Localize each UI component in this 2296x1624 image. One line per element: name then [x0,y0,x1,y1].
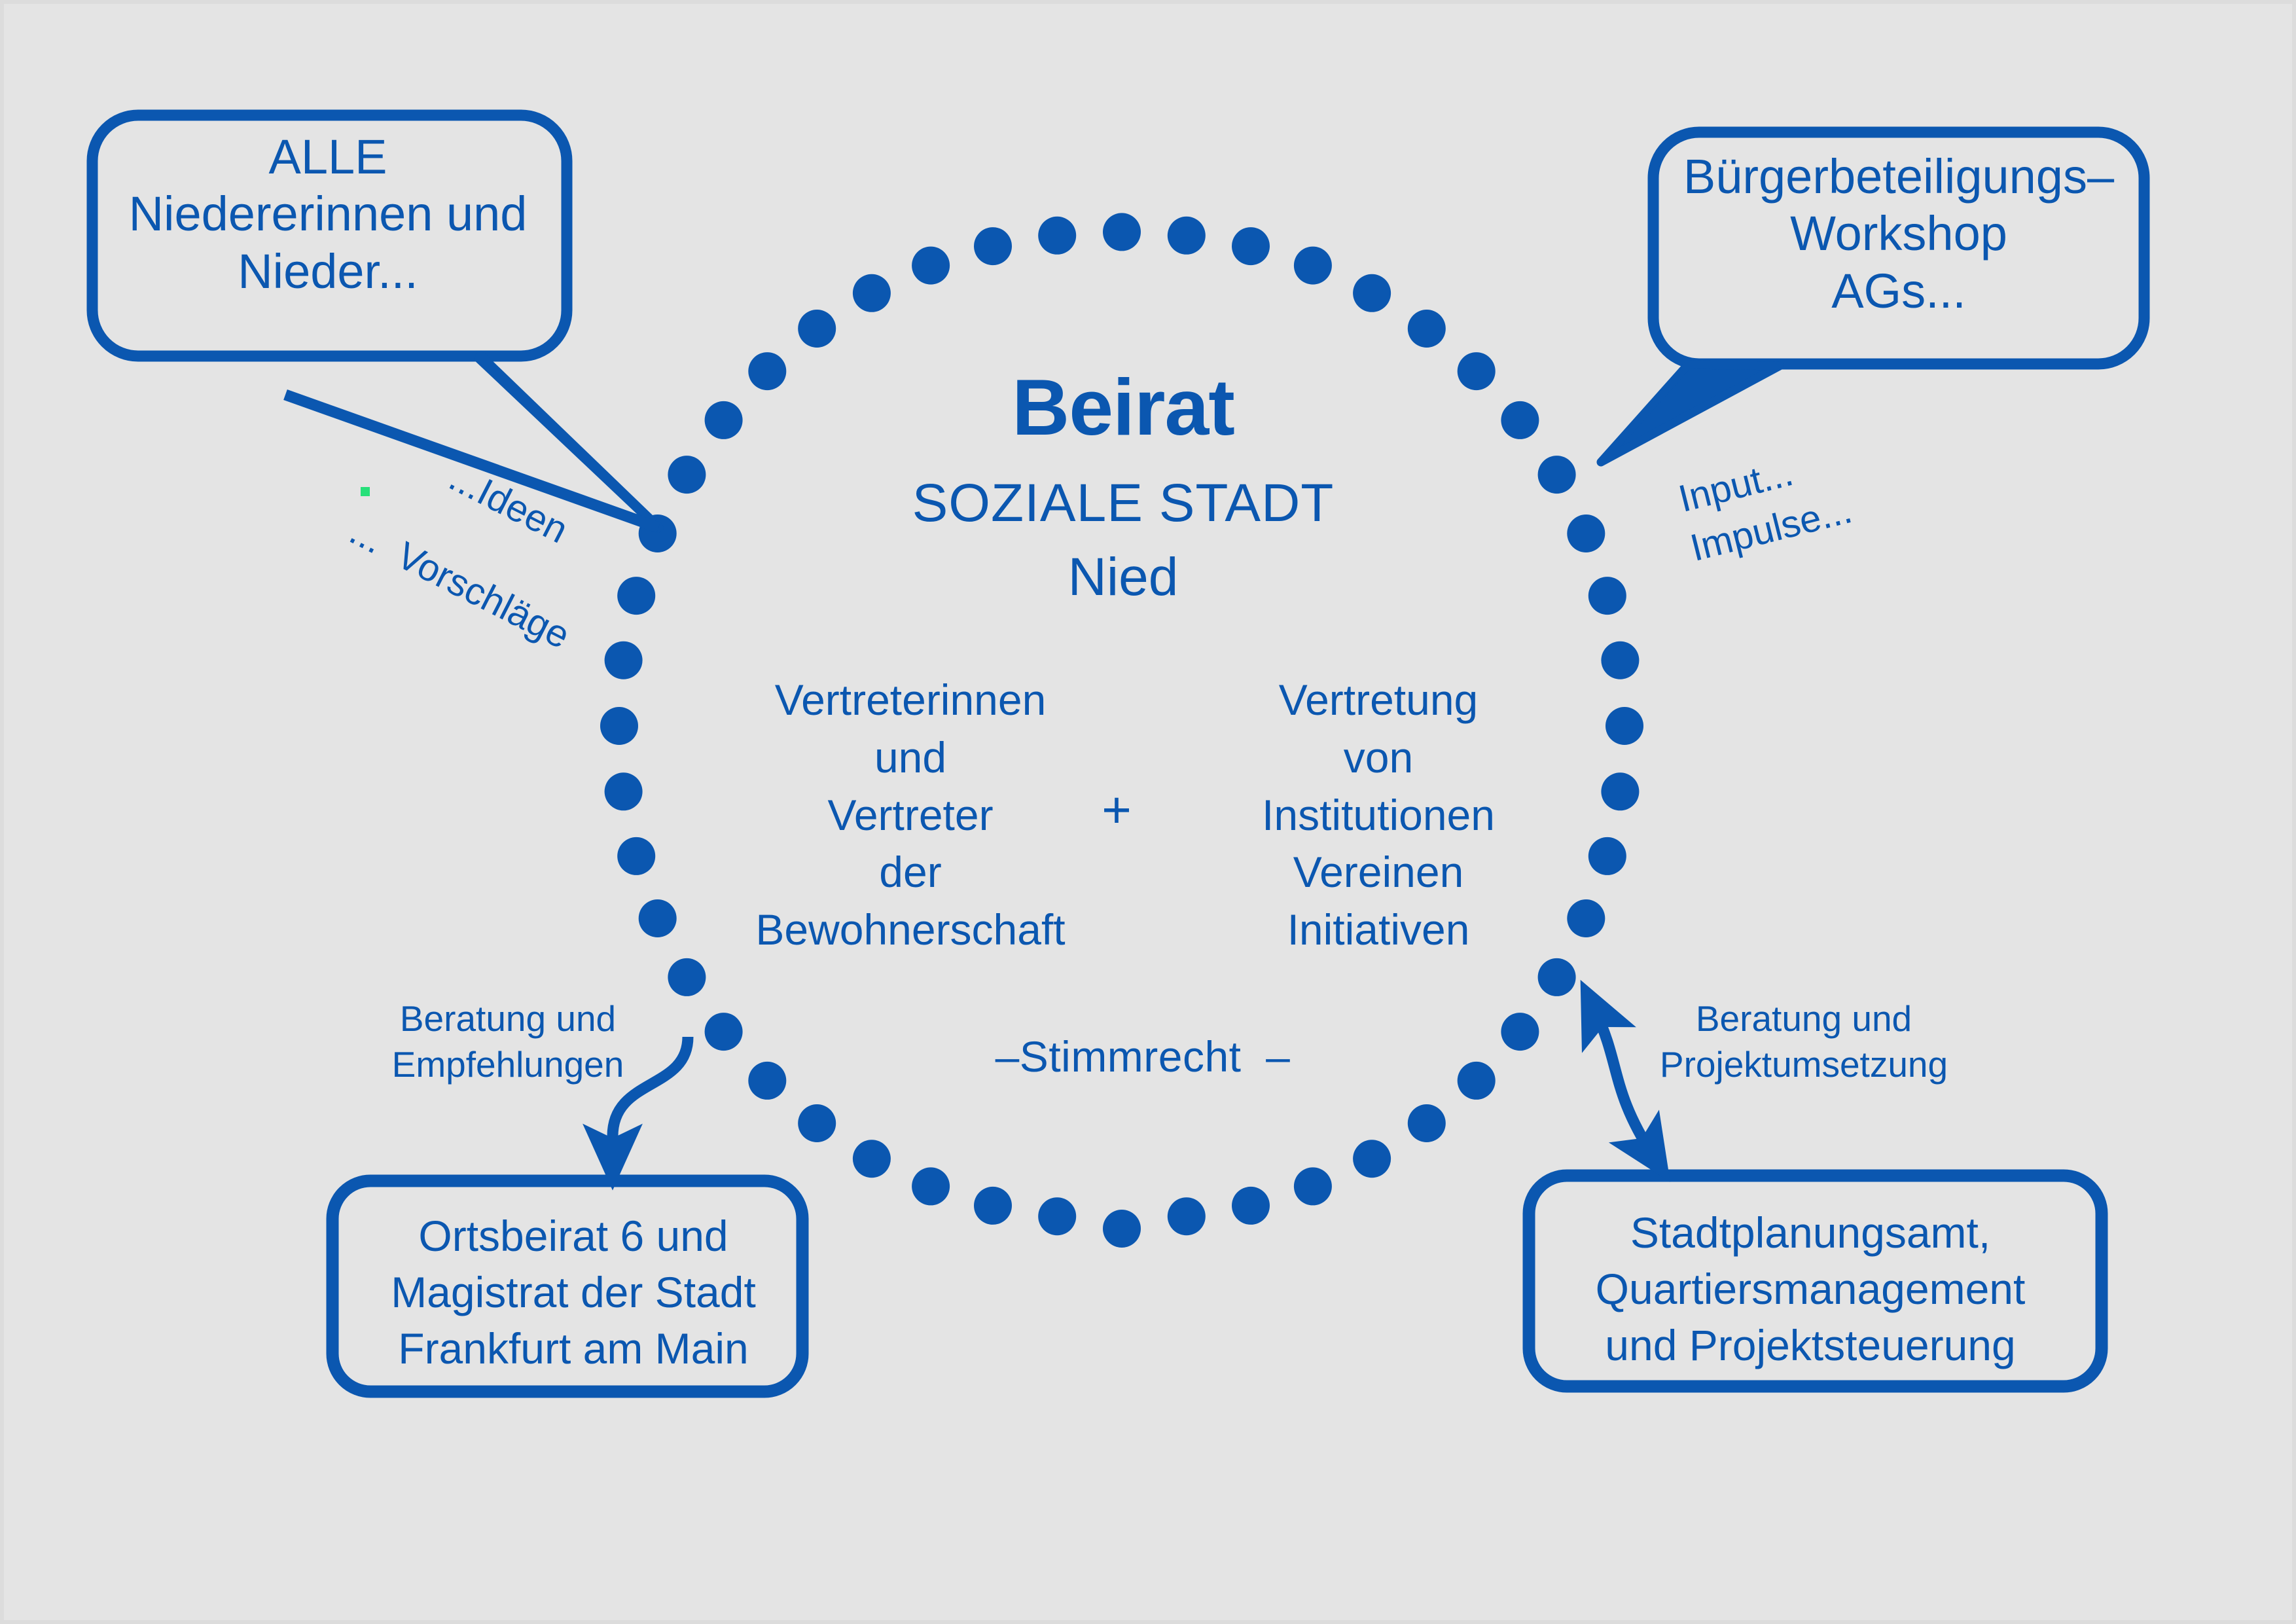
speech-bubble-top-left-label: ALLE Niedererinnen und Nieder... [96,128,560,300]
annotation-left-flow: Beratung und Empfehlungen [370,996,645,1088]
center-column-right: Vertretung von Institutionen Vereinen In… [1182,672,1575,959]
center-subheading-line-1: SOZIALE STADT [776,472,1470,535]
diagram-canvas: ALLE Niedererinnen und Nieder... Bürgerb… [0,0,2296,1624]
box-bottom-right-label: Stadtplanungsamt, Quartiersmanagement un… [1542,1205,2079,1373]
center-footer-note: –Stimmrecht – [907,1032,1378,1083]
speech-bubble-top-right-tail [1601,365,1780,462]
box-bottom-left-label: Ortsbeirat 6 und Magistrat der Stadt Fra… [344,1208,802,1377]
green-marker-dot [361,487,370,496]
plus-symbol: + [1077,780,1156,840]
speech-bubble-top-right-label: Bürgerbeteiligungs– Workshop AGs... [1670,148,2128,319]
annotation-right-flow: Beratung und Projektumsetzung [1634,996,1974,1088]
center-heading: Beirat [776,361,1470,455]
center-column-left: Vertreterinnen und Vertreter der Bewohne… [701,672,1120,959]
center-subheading-line-2: Nied [776,546,1470,609]
